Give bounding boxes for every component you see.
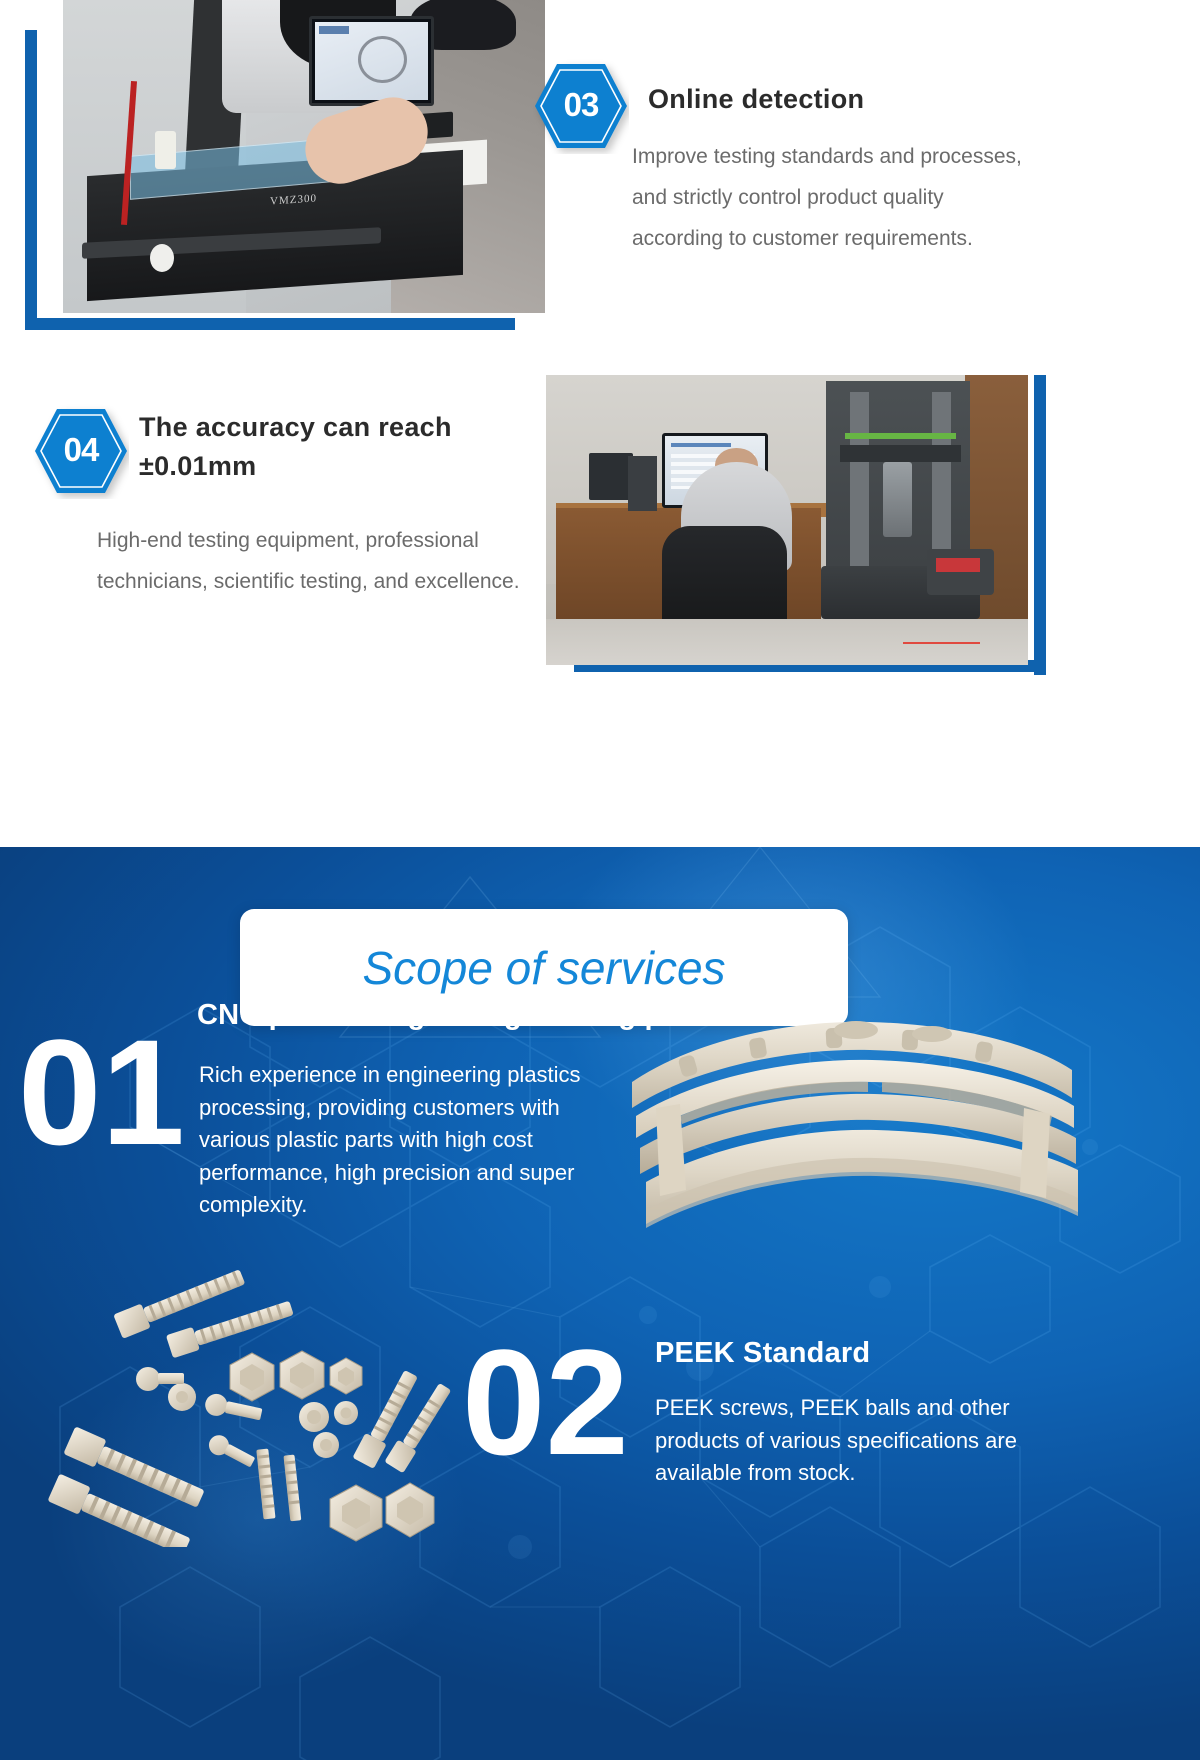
feature-body-03: Improve testing standards and processes,… — [632, 137, 1032, 260]
feature-block-04: 04 The accuracy can reach ±0.01mm High-e… — [0, 375, 1200, 775]
features-section: VMZ300 03 Online detection Improve testi… — [0, 0, 1200, 847]
scope-title-02: PEEK Standard — [655, 1337, 1155, 1370]
peek-machined-plate-photo — [620, 1012, 1080, 1267]
scope-number-01: 01 — [18, 1017, 185, 1167]
scope-body-02: PEEK screws, PEEK balls and other produc… — [655, 1392, 1055, 1490]
peek-screws-and-nuts-photo — [30, 1267, 460, 1547]
feature-03-photo-frame: VMZ300 — [25, 0, 545, 330]
feature-number-04: 04 — [33, 403, 129, 499]
scope-banner-title: Scope of services — [362, 941, 725, 995]
feature-04-photo-frame — [546, 375, 1046, 700]
feature-badge-04: 04 — [33, 403, 129, 499]
optical-measuring-machine-photo: VMZ300 — [63, 0, 545, 313]
tensile-testing-machine-photo — [546, 375, 1028, 665]
feature-title-03: Online detection — [648, 80, 1168, 119]
scope-of-services-section: Scope of services — [0, 847, 1200, 1760]
feature-block-03: VMZ300 03 Online detection Improve testi… — [0, 0, 1200, 360]
frame-accent-left — [25, 30, 37, 330]
feature-body-04: High-end testing equipment, professional… — [97, 521, 527, 603]
feature-number-03: 03 — [533, 58, 629, 154]
feature-badge-03: 03 — [533, 58, 629, 154]
feature-title-04: The accuracy can reach ±0.01mm — [139, 408, 499, 486]
frame-accent-right — [1034, 375, 1046, 675]
scope-body-01: Rich experience in engineering plastics … — [199, 1059, 631, 1222]
scope-title-01: CNC processing of engineering plastics — [197, 999, 957, 1032]
frame-accent-bottom — [25, 318, 515, 330]
scope-number-02: 02 — [462, 1327, 629, 1477]
